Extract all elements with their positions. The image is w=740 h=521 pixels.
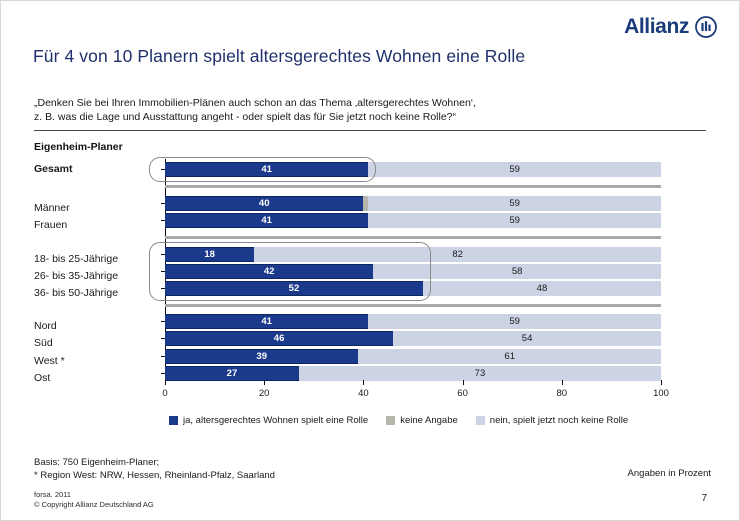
slide: Allianz Für 4 von 10 Planern spielt alte… — [0, 0, 740, 521]
chart-bar-row[interactable]: 4159 — [165, 213, 661, 228]
legend-item[interactable]: keine Angabe — [386, 415, 458, 426]
bar-value-label: 61 — [358, 349, 661, 364]
chart: 4159405941591882425852484159465439612773… — [165, 159, 661, 381]
brand-wordmark: Allianz — [624, 15, 689, 39]
bar-value-label: 58 — [373, 264, 661, 279]
x-axis-tick — [463, 380, 464, 385]
legend-swatch-no — [476, 416, 485, 425]
bar-value-label: 41 — [165, 314, 368, 329]
plot-area: 4159405941591882425852484159465439612773… — [165, 159, 661, 381]
x-axis-tick-label: 60 — [457, 388, 468, 399]
bar-value-label: 59 — [368, 213, 661, 228]
group-separator — [165, 185, 661, 188]
chart-bar-row[interactable]: 4159 — [165, 162, 661, 177]
category-label: Ost — [34, 372, 160, 384]
bar-value-label: 40 — [165, 196, 363, 211]
category-label: 18- bis 25-Jährige — [34, 253, 160, 265]
category-label: 36- bis 50-Jährige — [34, 287, 160, 299]
legend-label: keine Angabe — [400, 415, 458, 426]
category-label: Frauen — [34, 219, 160, 231]
allianz-bars-circle-icon — [695, 16, 717, 38]
chart-bar-row[interactable]: 4654 — [165, 331, 661, 346]
basis-note: Basis: 750 Eigenheim-Planer; * Region We… — [34, 456, 275, 482]
x-axis-tick-label: 100 — [653, 388, 669, 399]
group-separator — [165, 304, 661, 307]
bar-value-label: 48 — [423, 281, 661, 296]
basis-line-1: Basis: 750 Eigenheim-Planer; — [34, 456, 275, 469]
x-axis-tick-label: 40 — [358, 388, 369, 399]
chart-bar-row[interactable]: 4258 — [165, 264, 661, 279]
legend-label: ja, altersgerechtes Wohnen spielt eine R… — [183, 415, 368, 426]
x-axis-tick-label: 80 — [557, 388, 568, 399]
question-text: „Denken Sie bei Ihren Immobilien-Plänen … — [34, 96, 694, 124]
group-separator — [165, 236, 661, 239]
category-label: Gesamt — [34, 163, 160, 175]
x-axis-tick — [661, 380, 662, 385]
x-axis-tick — [562, 380, 563, 385]
x-axis-tick-label: 20 — [259, 388, 270, 399]
chart-bar-row[interactable]: 1882 — [165, 247, 661, 262]
bar-value-label: 46 — [165, 331, 393, 346]
bar-value-label: 18 — [165, 247, 254, 262]
category-label: 26- bis 35-Jährige — [34, 270, 160, 282]
bar-value-label: 54 — [393, 331, 661, 346]
allianz-logo: Allianz — [624, 15, 717, 39]
category-label: Süd — [34, 337, 160, 349]
group-heading: Eigenheim-Planer — [34, 141, 123, 153]
chart-bar-row[interactable]: 2773 — [165, 366, 661, 381]
x-axis-tick — [264, 380, 265, 385]
legend-item[interactable]: ja, altersgerechtes Wohnen spielt eine R… — [169, 415, 368, 426]
bar-value-label: 59 — [368, 314, 661, 329]
page-number: 7 — [701, 493, 707, 504]
bar-value-label: 59 — [368, 196, 661, 211]
question-line-2: z. B. was die Lage und Ausstattung angeh… — [34, 110, 694, 124]
chart-bar-row[interactable]: 5248 — [165, 281, 661, 296]
bar-value-label: 27 — [165, 366, 299, 381]
basis-line-2: * Region West: NRW, Hessen, Rheinland-Pf… — [34, 469, 275, 482]
x-axis-tick — [165, 380, 166, 385]
units-note: Angaben in Prozent — [628, 468, 711, 479]
bar-value-label: 52 — [165, 281, 423, 296]
category-label: Nord — [34, 320, 160, 332]
x-axis-tick-label: 0 — [162, 388, 167, 399]
category-label: Männer — [34, 202, 160, 214]
legend-item[interactable]: nein, spielt jetzt noch keine Rolle — [476, 415, 628, 426]
chart-bar-row[interactable]: 3961 — [165, 349, 661, 364]
bar-value-label: 41 — [165, 213, 368, 228]
category-labels: GesamtMännerFrauen18- bis 25-Jährige26- … — [34, 159, 160, 381]
source-note: forsa. 2011 © Copyright Allianz Deutschl… — [34, 490, 154, 510]
legend-label: nein, spielt jetzt noch keine Rolle — [490, 415, 628, 426]
bar-value-label: 39 — [165, 349, 358, 364]
question-line-1: „Denken Sie bei Ihren Immobilien-Plänen … — [34, 96, 694, 110]
header-divider — [34, 130, 706, 131]
page-title: Für 4 von 10 Planern spielt altersgerech… — [33, 46, 525, 67]
category-label: West * — [34, 355, 160, 367]
bar-value-label: 59 — [368, 162, 661, 177]
bar-value-label: 42 — [165, 264, 373, 279]
bar-value-label: 41 — [165, 162, 368, 177]
chart-bar-row[interactable]: 4059 — [165, 196, 661, 211]
chart-bar-row[interactable]: 4159 — [165, 314, 661, 329]
source-line-1: forsa. 2011 — [34, 490, 154, 500]
x-axis-tick — [363, 380, 364, 385]
source-line-2: © Copyright Allianz Deutschland AG — [34, 500, 154, 510]
bar-value-label: 82 — [254, 247, 661, 262]
legend-swatch-yes — [169, 416, 178, 425]
legend-swatch-na — [386, 416, 395, 425]
chart-legend: ja, altersgerechtes Wohnen spielt eine R… — [169, 415, 628, 426]
bar-value-label: 73 — [299, 366, 661, 381]
